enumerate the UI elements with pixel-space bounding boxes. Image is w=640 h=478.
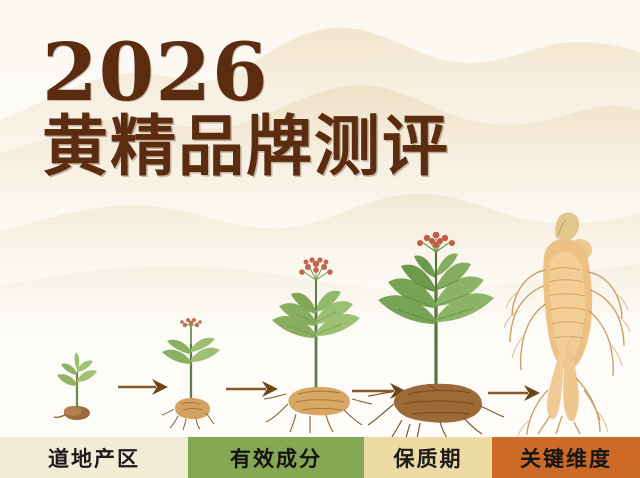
poster-canvas: 2026 黄精品牌测评 (0, 0, 640, 478)
growth-stage-mature-plant (368, 232, 504, 438)
title-block: 2026 黄精品牌测评 (42, 34, 450, 180)
poster-headline: 黄精品牌测评 (42, 113, 450, 180)
growth-sequence (0, 210, 640, 438)
banner-segment-active-ingredient[interactable]: 有效成分 (188, 437, 364, 478)
banner-segment-shelf-life[interactable]: 保质期 (364, 437, 492, 478)
poster-year: 2026 (42, 34, 450, 111)
growth-stage-flowering-plant (256, 254, 376, 434)
growth-stage-young-plant (148, 312, 234, 430)
key-dimensions-banner: 道地产区 有效成分 保质期 关键维度 (0, 437, 640, 478)
banner-segment-origin-region[interactable]: 道地产区 (0, 437, 188, 478)
growth-stage-harvested-root (500, 210, 640, 436)
banner-segment-key-dimension[interactable]: 关键维度 (492, 437, 640, 478)
growth-stage-seedling (44, 342, 110, 422)
